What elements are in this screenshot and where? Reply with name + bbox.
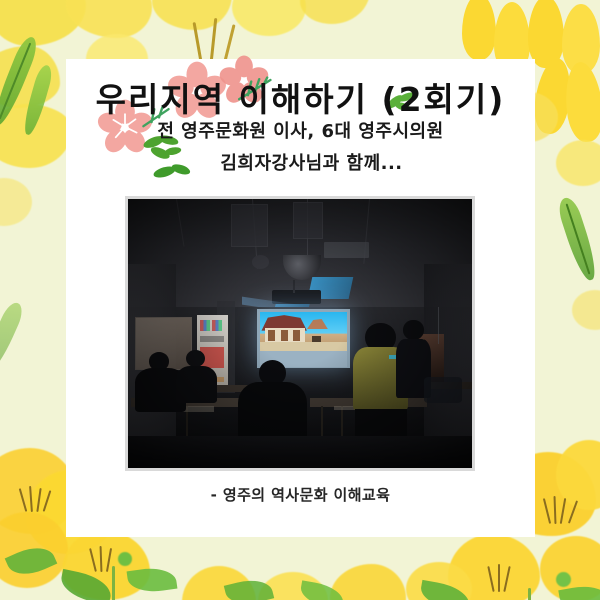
photo-frame xyxy=(125,196,475,471)
yellow-petal-blob xyxy=(556,140,600,186)
yellow-petal-blob xyxy=(330,564,406,600)
flower-bud-icon xyxy=(556,572,571,587)
title-block: 우리지역 이해하기 (2회기) 전 영주문화원 이사, 6대 영주시의원 김희자… xyxy=(66,59,535,189)
flower-stem xyxy=(112,566,115,600)
flower-stem xyxy=(528,588,531,600)
photo-vignette xyxy=(128,199,472,468)
yellow-petal-blob xyxy=(66,0,152,38)
flower-bud-icon xyxy=(118,552,132,566)
yellow-petal-blob xyxy=(152,0,232,30)
yellow-petal-blob xyxy=(232,0,306,36)
leaf-sprig-icon xyxy=(0,300,26,375)
yellow-petal-blob xyxy=(300,0,370,24)
page-title: 우리지역 이해하기 (2회기) xyxy=(66,73,535,121)
yellow-petal-blob xyxy=(462,0,496,60)
subtitle-line-1: 전 영주문화원 이사, 6대 영주시의원 xyxy=(66,117,535,143)
yellow-petal-blob xyxy=(0,178,32,226)
poster-canvas: 우리지역 이해하기 (2회기) 전 영주문화원 이사, 6대 영주시의원 김희자… xyxy=(0,0,600,600)
yellow-petal-blob xyxy=(572,290,600,330)
photo-caption: - 영주의 역사문화 이해교육 xyxy=(66,484,535,505)
poster-card: 우리지역 이해하기 (2회기) 전 영주문화원 이사, 6대 영주시의원 김희자… xyxy=(66,59,535,537)
lecture-room-photo xyxy=(128,199,472,468)
flower-stamen xyxy=(498,564,500,592)
subtitle-line-2: 김희자강사님과 함께... xyxy=(66,149,535,175)
